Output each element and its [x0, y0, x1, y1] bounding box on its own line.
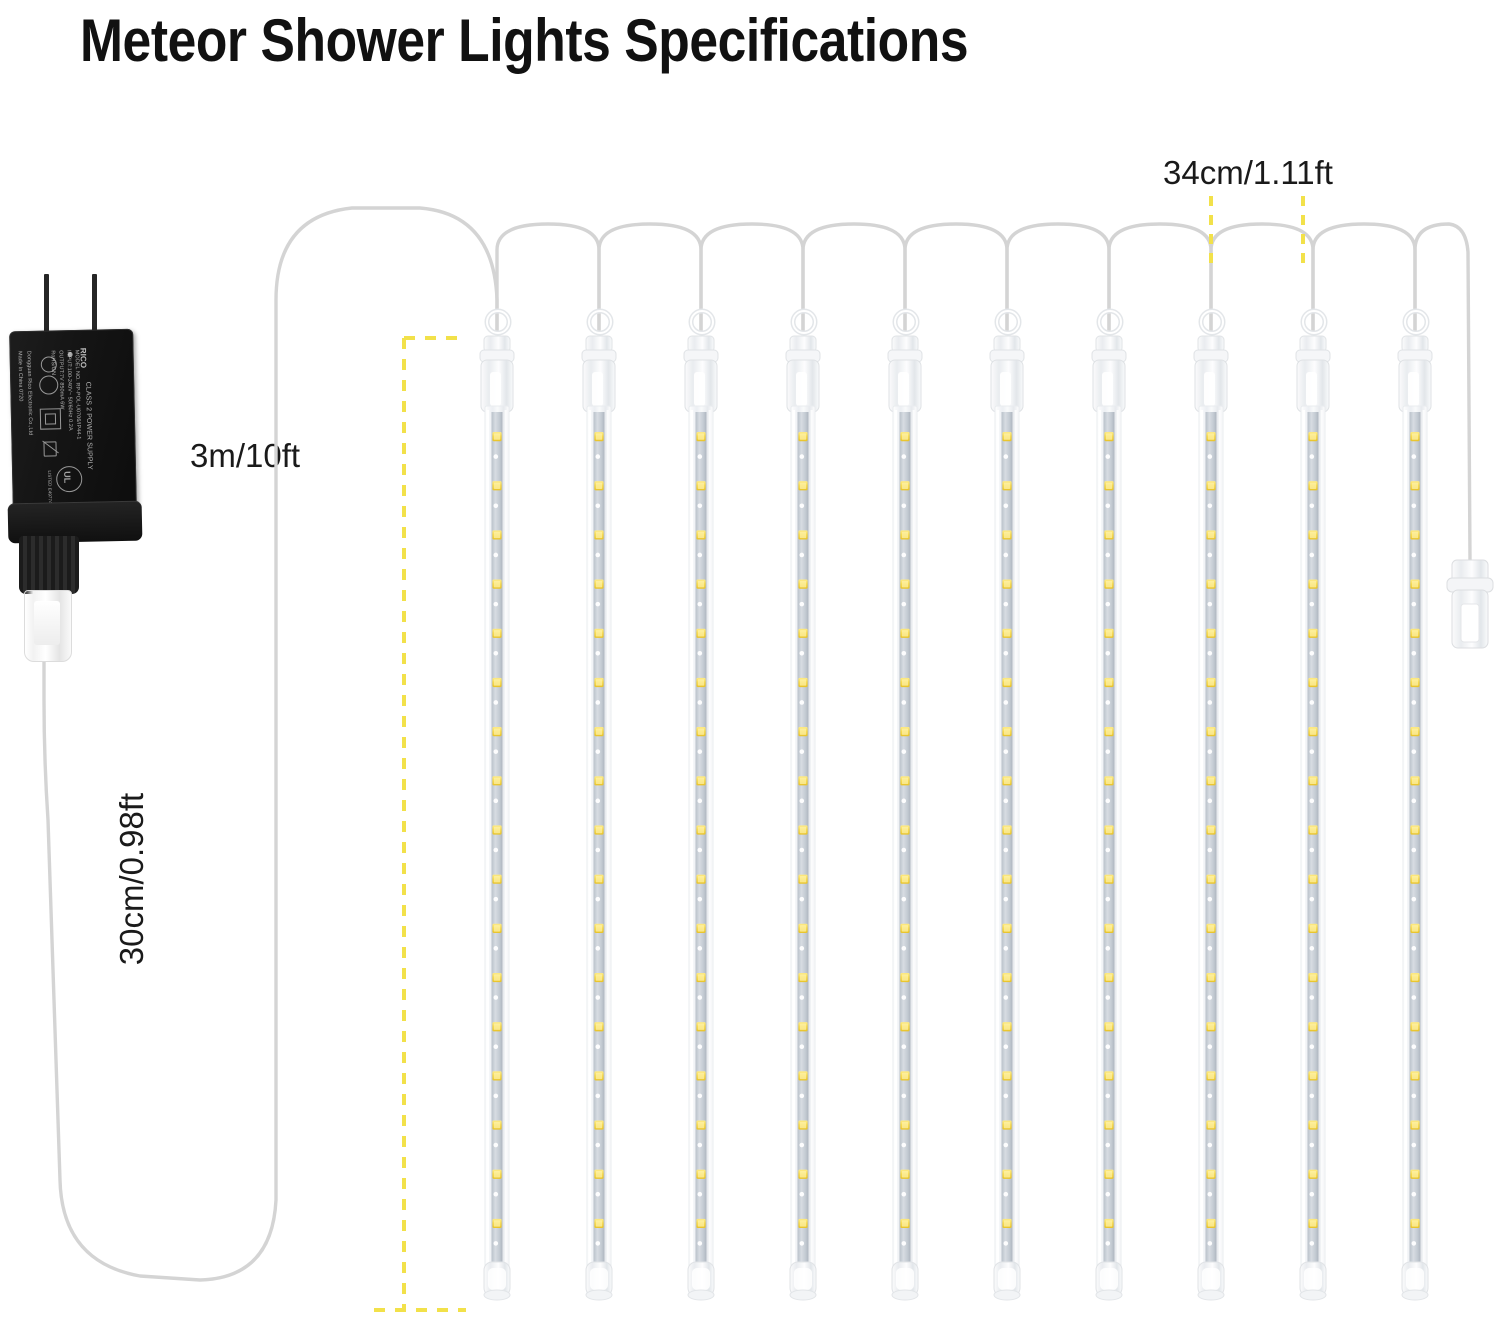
- drop-tube: [1194, 311, 1228, 1300]
- drop-tubes: [480, 311, 1432, 1300]
- adapter-printed-label: UL RICO CLASS 2 POWER SUPPLY MODEL NO. R…: [9, 329, 137, 512]
- drop-tube: [480, 311, 514, 1300]
- double-insulation-icon: [40, 408, 61, 429]
- measurement-guides: [374, 196, 1303, 1310]
- adapter-brand-text: RICO: [79, 348, 86, 369]
- end-connector: [1447, 560, 1493, 648]
- adapter-class-text: CLASS 2 POWER SUPPLY: [84, 382, 92, 470]
- adapter-output-text: OUTPUT:7V 850mA 6W: [57, 350, 65, 409]
- light-string-artwork: [0, 0, 1500, 1319]
- drop-tube: [1092, 311, 1126, 1300]
- weee-crossed-bin-icon: [41, 438, 57, 456]
- ul-mark-text: UL: [62, 471, 72, 483]
- drop-tube: [888, 311, 922, 1300]
- adapter-output-plug: [24, 590, 72, 662]
- drop-tube: [684, 311, 718, 1300]
- adapter-prong-left: [44, 274, 49, 334]
- specification-diagram: Meteor Shower Lights Specifications 34cm…: [0, 0, 1500, 1319]
- drop-tube: [582, 311, 616, 1300]
- drop-tube: [1296, 311, 1330, 1300]
- adapter-origin-text: Made In China 0720: [16, 351, 24, 401]
- drop-tube: [786, 311, 820, 1300]
- adapter-collar: [19, 536, 79, 594]
- ul-mark-icon: UL: [56, 466, 83, 493]
- adapter-rohs-text: RoHS/GN: [49, 350, 56, 375]
- drop-tube: [1398, 311, 1432, 1300]
- power-adapter: UL RICO CLASS 2 POWER SUPPLY MODEL NO. R…: [8, 270, 178, 670]
- safety-circle-icon: [39, 375, 58, 394]
- drop-tube: [990, 311, 1024, 1300]
- adapter-prong-right: [92, 274, 97, 334]
